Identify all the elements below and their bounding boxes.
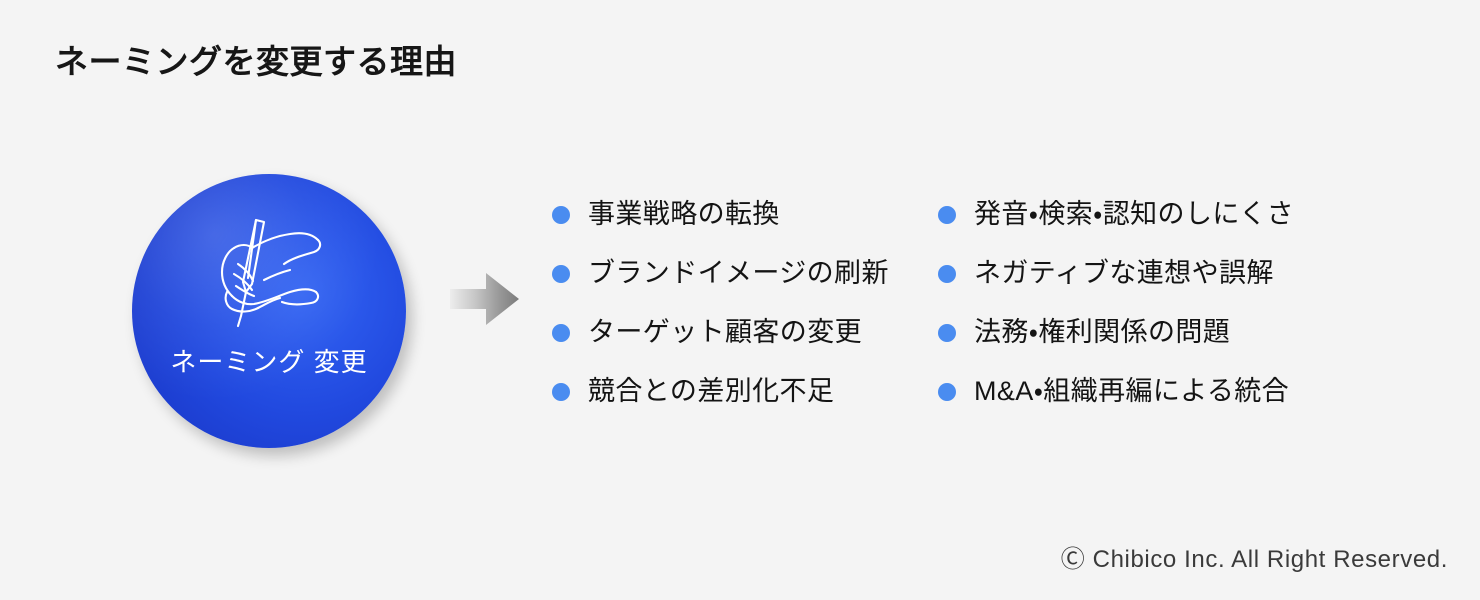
bullet-icon <box>552 265 570 283</box>
list-item: 発音・検索・認知のしにくさ <box>938 196 1368 233</box>
page-title: ネーミングを変更する理由 <box>55 42 457 82</box>
list-item: ネガティブな連想や誤解 <box>938 255 1368 292</box>
arrow-right-icon <box>450 271 520 327</box>
bullet-icon <box>552 383 570 401</box>
hand-writing-pen-icon <box>194 208 344 336</box>
list-item-label: ブランドイメージの刷新 <box>588 259 889 289</box>
list-item-label: ターゲット顧客の変更 <box>588 318 862 348</box>
list-item: 法務・権利関係の問題 <box>938 314 1368 351</box>
bullet-icon <box>552 206 570 224</box>
naming-change-badge: ネーミング 変更 <box>132 174 406 448</box>
list-item-label: 法務・権利関係の問題 <box>974 318 1230 348</box>
list-item-label: 競合との差別化不足 <box>588 377 834 407</box>
reasons-column-left: 事業戦略の転換 ブランドイメージの刷新 ターゲット顧客の変更 競合との差別化不足 <box>552 196 938 410</box>
bullet-icon <box>938 383 956 401</box>
list-item: 競合との差別化不足 <box>552 373 938 410</box>
list-item: 事業戦略の転換 <box>552 196 938 233</box>
list-item-label: ネガティブな連想や誤解 <box>974 259 1274 289</box>
slide-canvas: ネーミングを変更する理由 <box>0 0 1480 600</box>
bullet-icon <box>552 324 570 342</box>
list-item-label: 発音・検索・認知のしにくさ <box>974 200 1294 230</box>
list-item: ターゲット顧客の変更 <box>552 314 938 351</box>
copyright-footer: Ⓒ Chibico Inc. All Right Reserved. <box>1061 539 1448 574</box>
list-item: ブランドイメージの刷新 <box>552 255 938 292</box>
list-item-label: M&A・組織再編による統合 <box>974 377 1289 407</box>
bullet-icon <box>938 206 956 224</box>
list-item-label: 事業戦略の転換 <box>588 200 780 230</box>
reasons-column-right: 発音・検索・認知のしにくさ ネガティブな連想や誤解 法務・権利関係の問題 M&A… <box>938 196 1368 410</box>
badge-label: ネーミング 変更 <box>132 342 406 379</box>
list-item: M&A・組織再編による統合 <box>938 373 1368 410</box>
bullet-icon <box>938 324 956 342</box>
bullet-icon <box>938 265 956 283</box>
reasons-list: 事業戦略の転換 ブランドイメージの刷新 ターゲット顧客の変更 競合との差別化不足… <box>552 196 1368 410</box>
